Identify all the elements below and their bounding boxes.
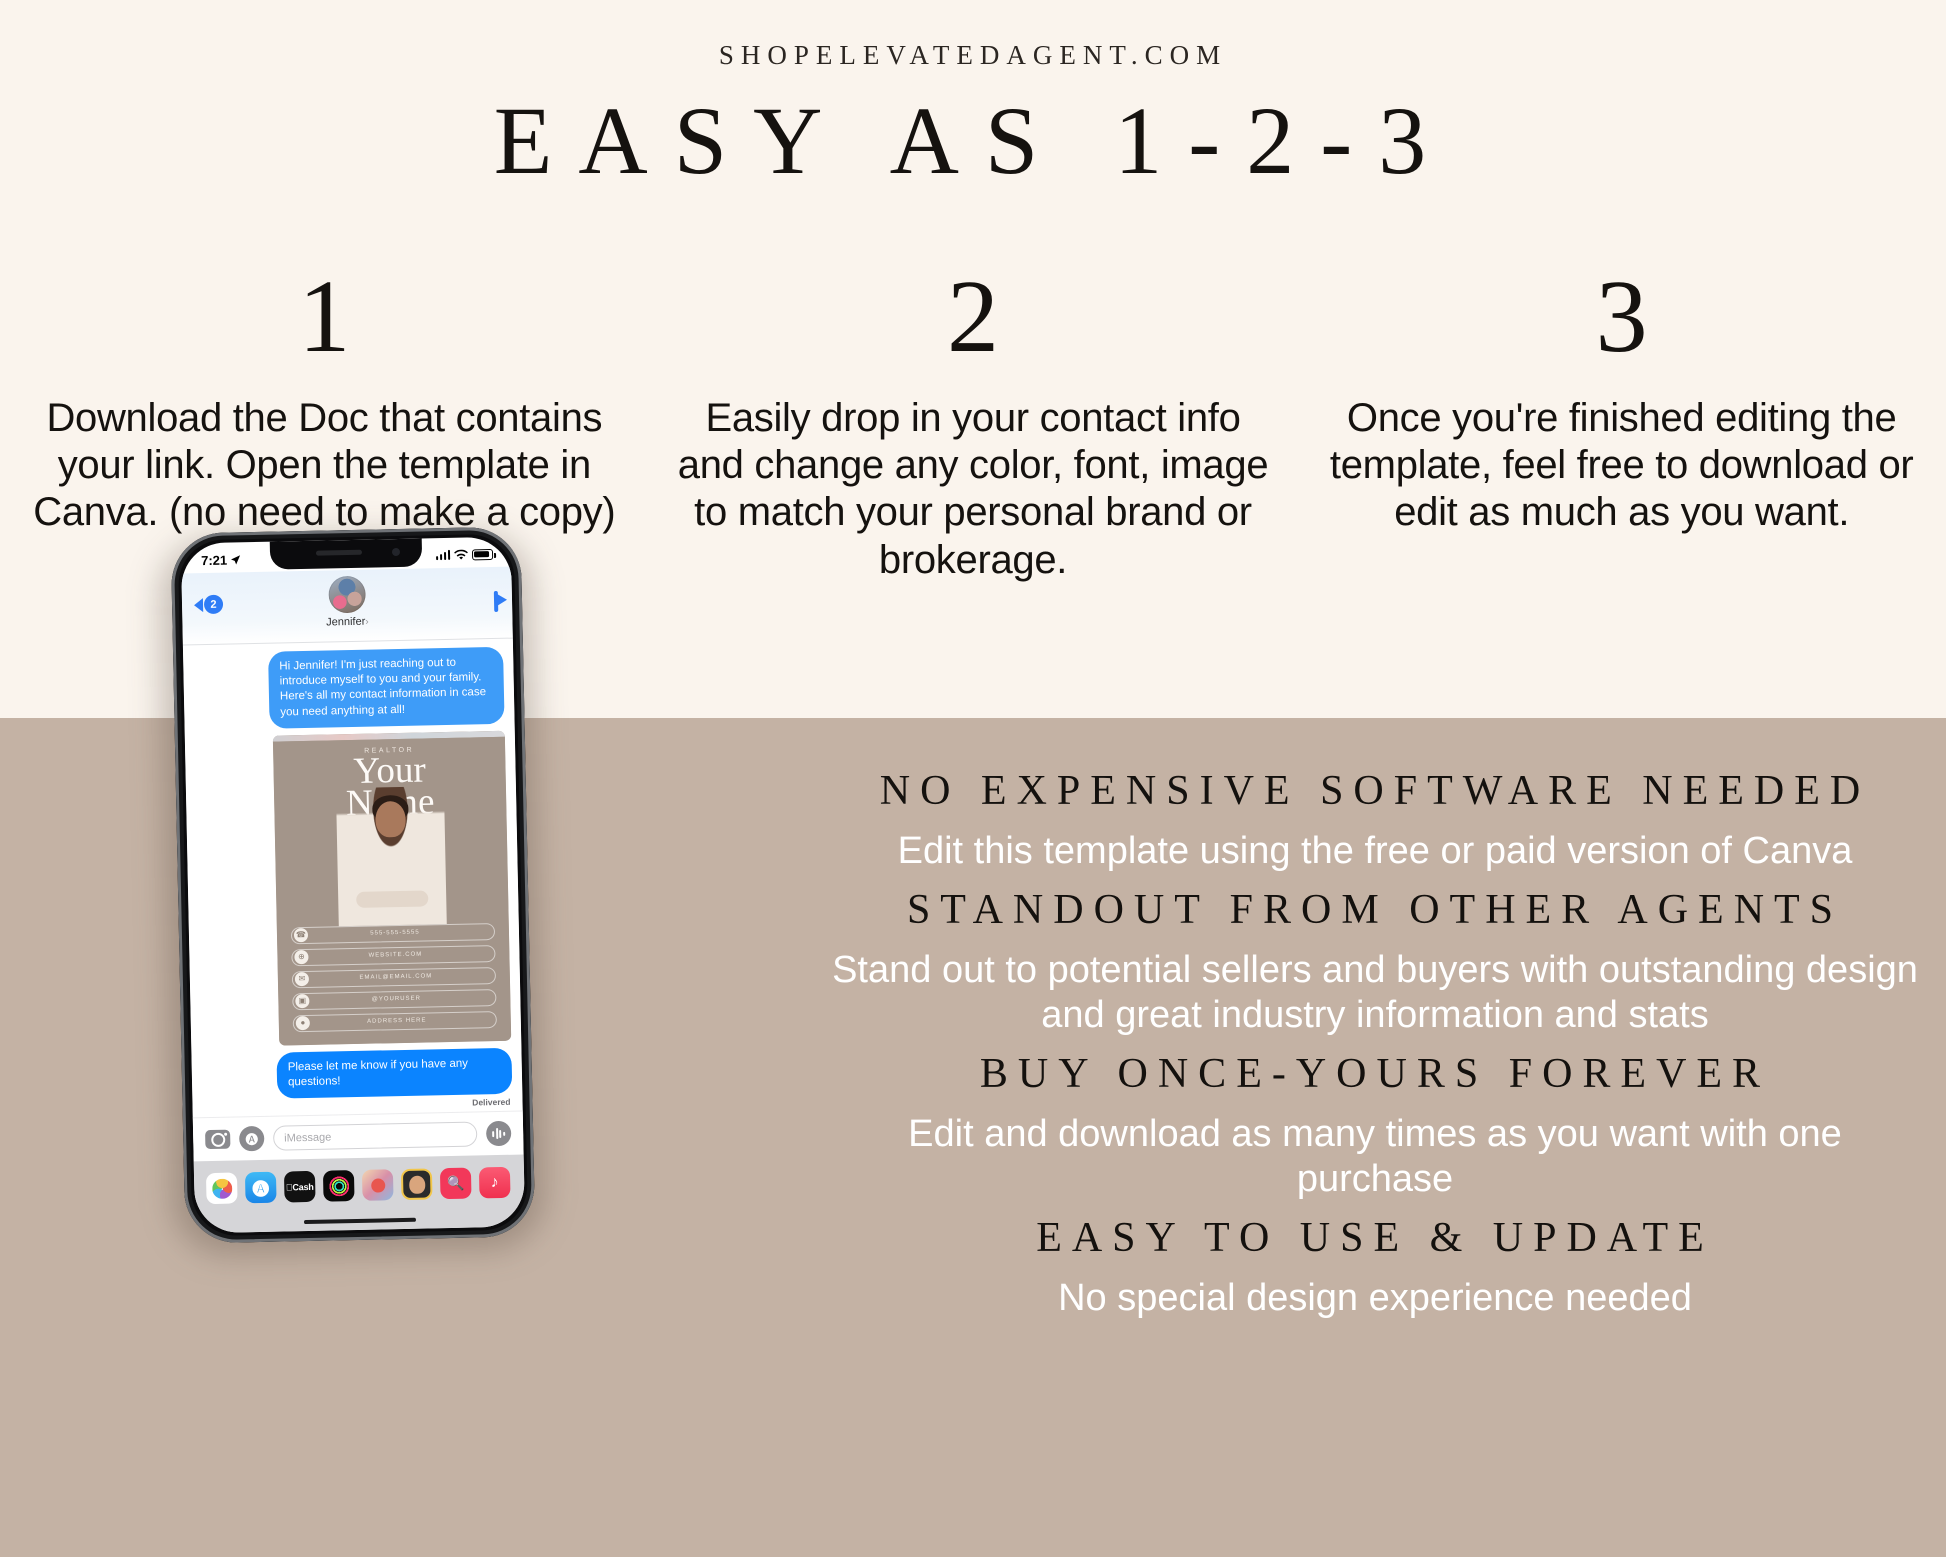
status-time: 7:21: [201, 552, 227, 568]
video-call-button[interactable]: [494, 593, 498, 611]
card-contact-row[interactable]: ☎ 555-555-5555: [291, 923, 495, 944]
globe-icon: ⊕: [294, 950, 308, 964]
message-bubble-outgoing[interactable]: Hi Jennifer! I'm just reaching out to in…: [268, 647, 505, 729]
card-contact-text: EMAIL@EMAIL.COM: [309, 972, 495, 982]
unread-badge: 2: [204, 595, 223, 614]
benefit-body: Edit and download as many times as you w…: [830, 1112, 1920, 1201]
fitness-app-icon[interactable]: [323, 1170, 355, 1202]
audio-waveform-icon[interactable]: [486, 1121, 512, 1147]
card-contact-row[interactable]: ▣ @YOURUSER: [292, 989, 496, 1010]
step-description: Easily drop in your contact info and cha…: [673, 395, 1274, 584]
benefit-item: BUY ONCE-YOURS FOREVER Edit and download…: [830, 1043, 1920, 1201]
step-number: 3: [1321, 265, 1922, 369]
benefit-item: EASY TO USE & UPDATE No special design e…: [830, 1207, 1920, 1320]
card-contact-row[interactable]: ⊕ WEBSITE.COM: [291, 945, 495, 966]
earpiece-speaker: [316, 550, 362, 556]
step-item: 3 Once you're finished editing the templ…: [1297, 265, 1946, 584]
card-body: REALTOR Your Name ☎ 555-555-5555: [273, 736, 511, 1045]
location-pin-icon: ●: [296, 1016, 310, 1030]
card-contact-text: @YOURUSER: [309, 994, 495, 1004]
images-app-icon[interactable]: [440, 1168, 472, 1200]
step-description: Download the Doc that contains your link…: [24, 395, 625, 537]
step-number: 1: [24, 265, 625, 369]
photos-app-icon[interactable]: [206, 1172, 238, 1204]
agent-photo-arms: [356, 890, 428, 908]
phone-screen: 7:21 2 Jennifer›: [181, 537, 525, 1234]
home-indicator[interactable]: [304, 1218, 416, 1224]
card-contact-text: WEBSITE.COM: [308, 950, 494, 960]
memoji-app-icon[interactable]: [401, 1168, 433, 1200]
camera-icon[interactable]: [205, 1130, 230, 1150]
contact-name-label: Jennifer: [326, 616, 365, 629]
chevron-left-icon: [194, 598, 203, 612]
benefit-body: Stand out to potential sellers and buyer…: [830, 948, 1920, 1037]
page-title: EASY AS 1-2-3: [0, 88, 1946, 194]
phone-notch: [270, 538, 423, 569]
agent-photo: [336, 786, 447, 926]
front-camera-icon: [392, 548, 400, 556]
contact-header[interactable]: Jennifer›: [325, 576, 369, 629]
back-button[interactable]: 2: [194, 595, 223, 615]
step-number: 2: [673, 265, 1274, 369]
business-card-attachment[interactable]: REALTOR Your Name ☎ 555-555-5555: [273, 730, 511, 1045]
card-contact-row[interactable]: ● ADDRESS HERE: [293, 1011, 497, 1032]
benefit-body: Edit this template using the free or pai…: [830, 829, 1920, 873]
apple-cash-app-icon[interactable]: Cash: [284, 1171, 316, 1203]
memoji-stickers-app-icon[interactable]: [362, 1169, 394, 1201]
site-url: SHOPELEVATEDAGENT.COM: [0, 40, 1946, 71]
benefit-title: BUY ONCE-YOURS FOREVER: [830, 1043, 1920, 1106]
battery-icon: [472, 548, 493, 559]
step-item: 2 Easily drop in your contact info and c…: [649, 265, 1298, 584]
card-contact-text: 555-555-5555: [308, 928, 494, 938]
contact-name: Jennifer›: [326, 616, 369, 629]
benefit-item: NO EXPENSIVE SOFTWARE NEEDED Edit this t…: [830, 760, 1920, 873]
wifi-icon: [454, 549, 468, 560]
instagram-icon: ▣: [295, 994, 309, 1008]
benefits-list: NO EXPENSIVE SOFTWARE NEEDED Edit this t…: [830, 760, 1920, 1327]
avatar: [328, 576, 366, 614]
chat-header: 2 Jennifer›: [181, 567, 512, 646]
message-input[interactable]: iMessage: [273, 1121, 477, 1150]
phone-mockup: 7:21 2 Jennifer›: [171, 526, 536, 1248]
benefit-title: EASY TO USE & UPDATE: [830, 1207, 1920, 1270]
app-drawer-dock: 🅐 Cash ♪: [194, 1154, 525, 1233]
card-contact-rows: ☎ 555-555-5555 ⊕ WEBSITE.COM ✉ EMAIL@EMA…: [291, 923, 497, 1037]
benefit-title: STANDOUT FROM OTHER AGENTS: [830, 879, 1920, 942]
app-store-app-icon[interactable]: 🅐: [245, 1172, 277, 1204]
chevron-right-icon: ›: [365, 617, 369, 628]
email-icon: ✉: [295, 972, 309, 986]
message-input-bar: 🅐 iMessage: [193, 1110, 524, 1161]
benefit-body: No special design experience needed: [830, 1276, 1920, 1320]
step-description: Once you're finished editing the templat…: [1321, 395, 1922, 537]
video-camera-icon: [494, 591, 498, 612]
app-store-icon[interactable]: 🅐: [239, 1126, 265, 1152]
card-contact-row[interactable]: ✉ EMAIL@EMAIL.COM: [292, 967, 496, 988]
message-thread[interactable]: Hi Jennifer! I'm just reaching out to in…: [183, 639, 523, 1144]
status-bar-left: 7:21: [201, 552, 241, 568]
music-app-icon[interactable]: ♪: [479, 1167, 511, 1199]
benefit-item: STANDOUT FROM OTHER AGENTS Stand out to …: [830, 879, 1920, 1037]
cellular-signal-icon: [435, 550, 450, 560]
phone-icon: ☎: [294, 928, 308, 942]
benefit-title: NO EXPENSIVE SOFTWARE NEEDED: [830, 760, 1920, 823]
location-arrow-icon: [230, 554, 241, 565]
agent-photo-face: [375, 801, 406, 838]
message-bubble-outgoing[interactable]: Please let me know if you have any quest…: [276, 1047, 512, 1098]
status-bar-right: [435, 548, 493, 560]
card-contact-text: ADDRESS HERE: [310, 1016, 496, 1026]
